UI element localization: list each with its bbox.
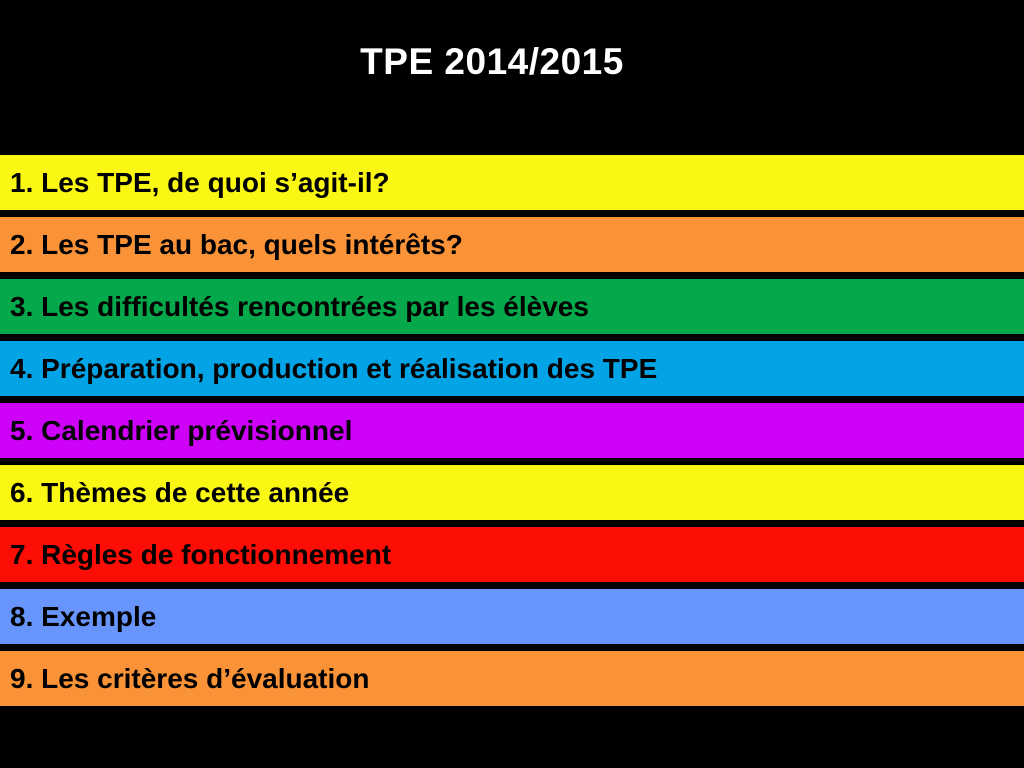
agenda-item-9[interactable]: 9. Les critères d’évaluation (0, 651, 1024, 706)
title-block: TPE 2014/2015 (0, 40, 984, 84)
agenda-item-label: 3. Les difficultés rencontrées par les é… (10, 291, 589, 323)
agenda-item-label: 4. Préparation, production et réalisatio… (10, 353, 657, 385)
agenda-item-label: 7. Règles de fonctionnement (10, 539, 391, 571)
agenda-item-3[interactable]: 3. Les difficultés rencontrées par les é… (0, 279, 1024, 334)
agenda-item-5[interactable]: 5. Calendrier prévisionnel (0, 403, 1024, 458)
agenda-item-2[interactable]: 2. Les TPE au bac, quels intérêts? (0, 217, 1024, 272)
agenda-item-label: 1. Les TPE, de quoi s’agit-il? (10, 167, 390, 199)
page-title: TPE 2014/2015 (360, 40, 624, 84)
agenda-item-label: 8. Exemple (10, 601, 156, 633)
agenda-item-label: 2. Les TPE au bac, quels intérêts? (10, 229, 463, 261)
agenda-item-label: 9. Les critères d’évaluation (10, 663, 370, 695)
agenda-item-1[interactable]: 1. Les TPE, de quoi s’agit-il? (0, 155, 1024, 210)
agenda-item-6[interactable]: 6. Thèmes de cette année (0, 465, 1024, 520)
agenda-list: 1. Les TPE, de quoi s’agit-il? 2. Les TP… (0, 155, 1024, 706)
agenda-item-label: 5. Calendrier prévisionnel (10, 415, 352, 447)
agenda-item-label: 6. Thèmes de cette année (10, 477, 349, 509)
presentation-slide: TPE 2014/2015 1. Les TPE, de quoi s’agit… (0, 0, 1024, 768)
agenda-item-7[interactable]: 7. Règles de fonctionnement (0, 527, 1024, 582)
agenda-item-8[interactable]: 8. Exemple (0, 589, 1024, 644)
agenda-item-4[interactable]: 4. Préparation, production et réalisatio… (0, 341, 1024, 396)
